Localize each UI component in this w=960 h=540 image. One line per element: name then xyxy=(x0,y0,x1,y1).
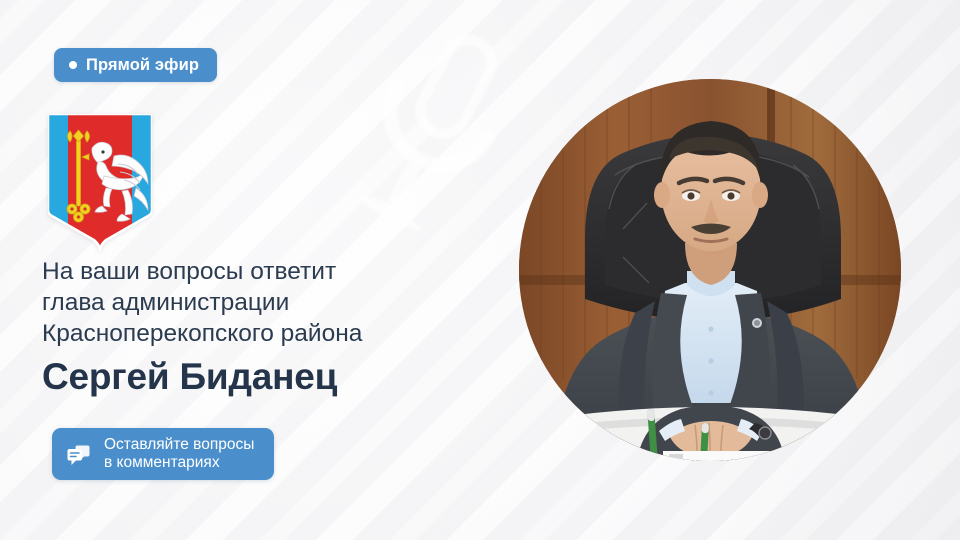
coat-of-arms-icon xyxy=(48,114,152,256)
headline-block: На ваши вопросы ответит глава администра… xyxy=(42,256,472,399)
headline-line-1: На ваши вопросы ответит xyxy=(42,256,472,287)
headline-line-2: глава администрации xyxy=(42,287,472,318)
microphone-icon xyxy=(318,18,548,268)
portrait-photo xyxy=(519,79,901,461)
cta-label: Оставляйте вопросы в комментариях xyxy=(104,436,254,473)
live-dot-icon xyxy=(69,61,77,69)
live-badge: Прямой эфир xyxy=(54,48,217,82)
live-badge-label: Прямой эфир xyxy=(86,56,199,75)
person-name: Сергей Биданец xyxy=(42,355,472,399)
headline-line-3: Красноперекопского района xyxy=(42,318,472,349)
cta-line-2: в комментариях xyxy=(104,454,254,473)
cta-line-1: Оставляйте вопросы xyxy=(104,436,254,455)
leave-questions-cta[interactable]: Оставляйте вопросы в комментариях xyxy=(52,428,274,480)
portrait-illustration xyxy=(519,79,901,461)
live-stream-announcement-banner: Прямой эфир xyxy=(0,0,960,540)
comments-icon xyxy=(66,442,91,467)
